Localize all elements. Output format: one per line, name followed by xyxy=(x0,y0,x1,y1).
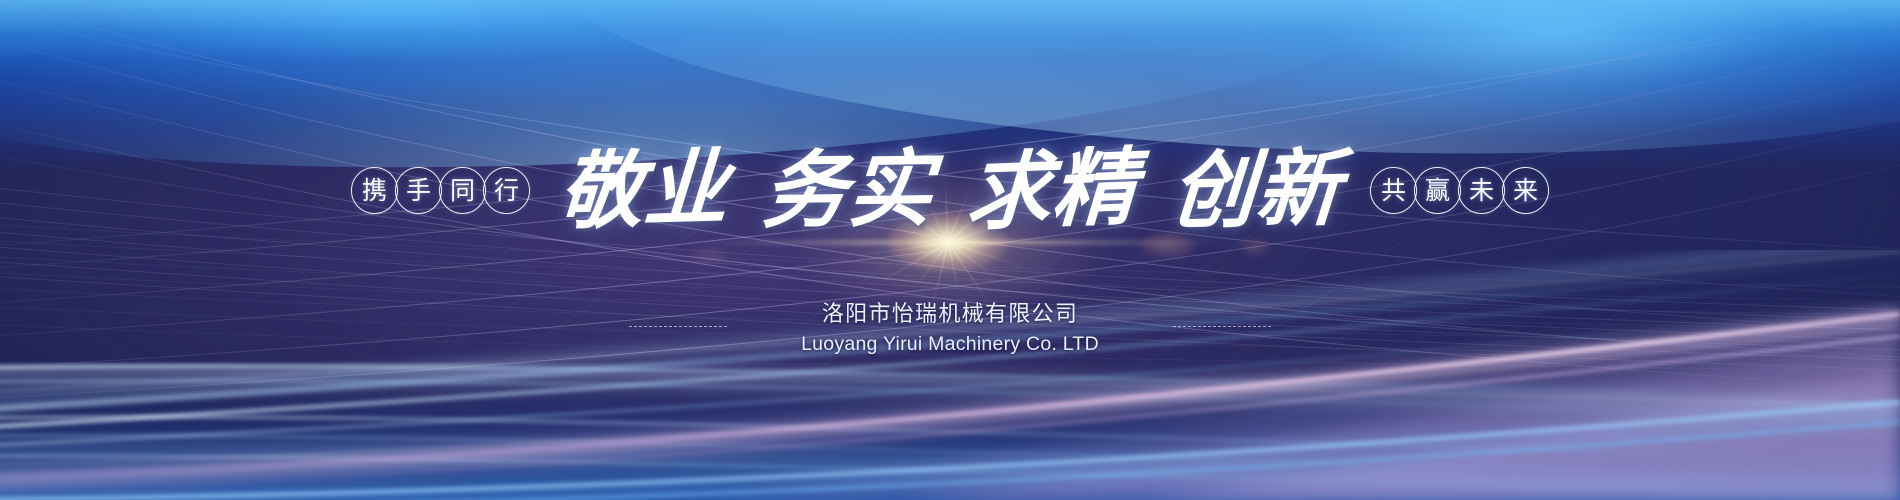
dashed-rule-right xyxy=(1173,326,1271,327)
circle-lai: 来 xyxy=(1502,167,1549,214)
circle-gong: 共 xyxy=(1370,167,1417,214)
hero-banner: 携 手 同 行 敬业 务实 求精 创新 共 赢 未 来 洛阳市怡瑞机械有限公司 … xyxy=(0,0,1900,500)
background-light-streaks xyxy=(0,250,1900,500)
slogan-word-jingye: 敬业 xyxy=(556,148,731,233)
circle-shou: 手 xyxy=(395,167,442,214)
slogan-word-qiujing: 求精 xyxy=(965,147,1139,233)
dashed-rule-left xyxy=(629,326,727,327)
company-name-texts: 洛阳市怡瑞机械有限公司 Luoyang Yirui Machinery Co. … xyxy=(801,296,1099,356)
right-circle-group: 共 赢 未 来 xyxy=(1370,167,1549,214)
company-name-block: 洛阳市怡瑞机械有限公司 Luoyang Yirui Machinery Co. … xyxy=(0,296,1900,356)
company-name-row: 洛阳市怡瑞机械有限公司 Luoyang Yirui Machinery Co. … xyxy=(629,296,1271,356)
company-name-en: Luoyang Yirui Machinery Co. LTD xyxy=(801,333,1099,356)
company-name-cn: 洛阳市怡瑞机械有限公司 xyxy=(822,296,1078,328)
circle-xie: 携 xyxy=(351,167,398,214)
headline-row: 携 手 同 行 敬业 务实 求精 创新 共 赢 未 来 xyxy=(0,138,1900,242)
slogan-word-chuangxin: 创新 xyxy=(1168,148,1344,231)
circle-xing: 行 xyxy=(483,167,530,214)
circle-ying: 赢 xyxy=(1414,167,1461,214)
left-circle-group: 携 手 同 行 xyxy=(351,167,530,214)
circle-tong: 同 xyxy=(439,167,486,214)
circle-wei: 未 xyxy=(1458,167,1505,214)
slogan-calligraphy: 敬业 务实 求精 创新 xyxy=(542,150,1358,230)
slogan-word-wushi: 务实 xyxy=(760,149,936,231)
